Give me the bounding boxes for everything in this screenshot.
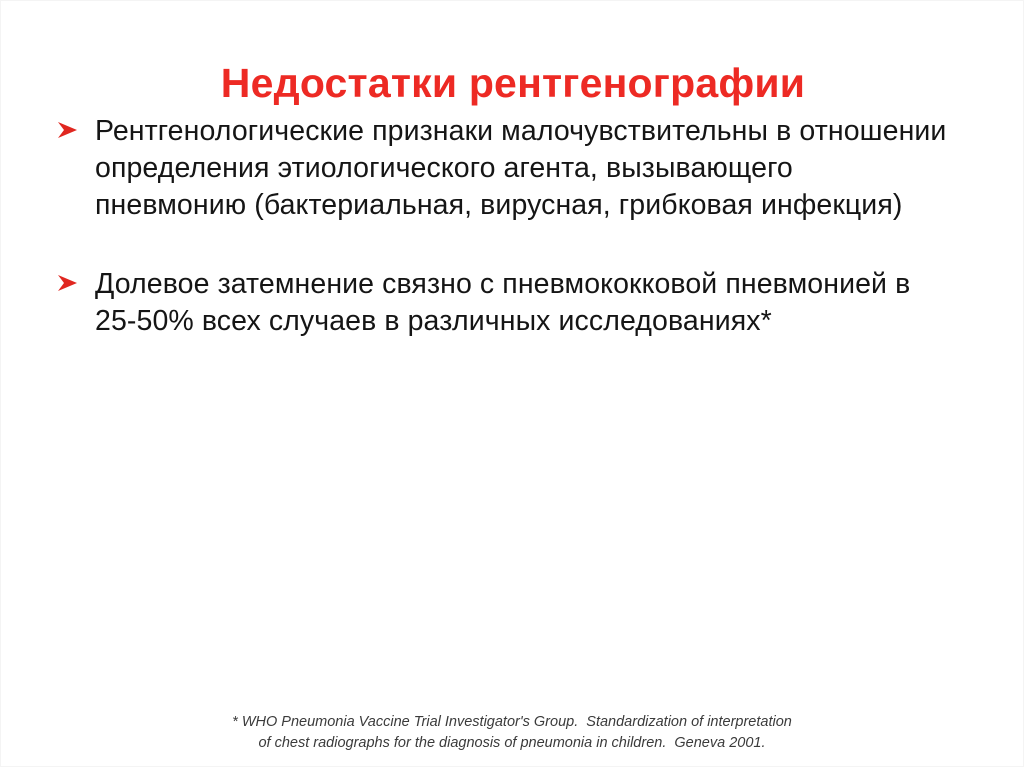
list-item-text: Долевое затемнение связно с пневмококков… bbox=[95, 266, 950, 340]
footnote-citation: * WHO Pneumonia Vaccine Trial Investigat… bbox=[1, 712, 1023, 754]
page-title: Недостатки рентгенографии bbox=[1, 62, 1024, 105]
red-arrowhead-icon bbox=[57, 113, 95, 140]
list-item: Долевое затемнение связно с пневмококков… bbox=[57, 266, 977, 340]
red-arrowhead-icon bbox=[57, 266, 95, 293]
list-item: Рентгенологические признаки малочувствит… bbox=[57, 113, 977, 224]
presentation-slide: Недостатки рентгенографии Рентгенологиче… bbox=[0, 0, 1024, 767]
list-item-text: Рентгенологические признаки малочувствит… bbox=[95, 113, 950, 224]
footnote-line-2: of chest radiographs for the diagnosis o… bbox=[1, 733, 1023, 754]
footnote-line-1: * WHO Pneumonia Vaccine Trial Investigat… bbox=[1, 712, 1023, 733]
bullet-list: Рентгенологические признаки малочувствит… bbox=[57, 113, 977, 340]
